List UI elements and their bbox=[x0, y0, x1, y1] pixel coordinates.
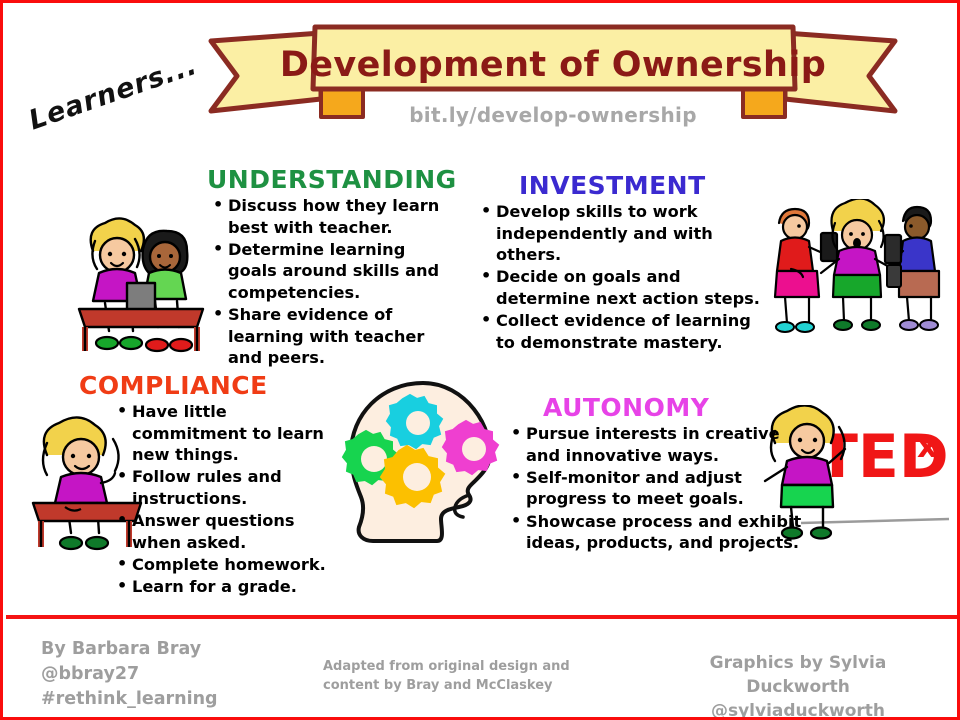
page-title: Development of Ownership bbox=[203, 45, 903, 85]
list-item: Determine learning goals around skills a… bbox=[213, 239, 457, 303]
footer-adaptation-line-1: Adapted from original design and bbox=[323, 658, 570, 677]
footer-divider bbox=[6, 615, 960, 619]
list-item: Decide on goals and determine next actio… bbox=[481, 266, 767, 309]
quadrant-investment-bullets: Develop skills to work independently and… bbox=[481, 201, 767, 353]
footer-adaptation-line-2: content by Bray and McClaskey bbox=[323, 677, 570, 696]
learners-label: Learners... bbox=[25, 50, 201, 137]
list-item: Learn for a grade. bbox=[117, 576, 339, 597]
list-item: Self-monitor and adjust progress to meet… bbox=[511, 467, 805, 510]
footer-author-credit: By Barbara Bray @bbray27 #rethink_learni… bbox=[41, 637, 218, 712]
footer-graphics-handle: @sylviaduckworth bbox=[663, 699, 933, 720]
list-item: Complete homework. bbox=[117, 554, 339, 575]
poster-canvas: Development of Ownership bit.ly/develop-… bbox=[0, 0, 960, 720]
footer-graphics-name: Graphics by Sylvia Duckworth bbox=[663, 651, 933, 699]
short-link: bit.ly/develop-ownership bbox=[213, 103, 893, 127]
list-item: Answer questions when asked. bbox=[117, 510, 339, 553]
quadrant-understanding-heading: UNDERSTANDING bbox=[207, 167, 457, 193]
footer-adaptation-note: Adapted from original design and content… bbox=[323, 658, 570, 696]
list-item: Pursue interests in creative and innovat… bbox=[511, 423, 805, 466]
list-item: Showcase process and exhibit ideas, prod… bbox=[511, 511, 805, 554]
list-item: Follow rules and instructions. bbox=[117, 466, 339, 509]
head-profile-with-gears-illustration bbox=[341, 377, 513, 553]
quadrant-investment-heading: INVESTMENT bbox=[519, 173, 767, 199]
quadrant-autonomy-bullets: Pursue interests in creative and innovat… bbox=[511, 423, 805, 553]
quadrant-autonomy: AUTONOMY Pursue interests in creative an… bbox=[509, 395, 805, 555]
footer-author-name: By Barbara Bray bbox=[41, 637, 218, 662]
quadrant-compliance-bullets: Have little commitment to learn new thin… bbox=[117, 401, 339, 597]
quadrant-compliance: COMPLIANCE Have little commitment to lea… bbox=[79, 373, 339, 599]
quadrant-autonomy-heading: AUTONOMY bbox=[543, 395, 805, 421]
list-item: Discuss how they learn best with teacher… bbox=[213, 195, 457, 238]
list-item: Develop skills to work independently and… bbox=[481, 201, 767, 265]
footer-author-handle: @bbray27 bbox=[41, 662, 218, 687]
quadrant-understanding: UNDERSTANDING Discuss how they learn bes… bbox=[199, 167, 457, 369]
quadrant-investment: INVESTMENT Develop skills to work indepe… bbox=[481, 173, 767, 354]
footer-graphics-credit: Graphics by Sylvia Duckworth @sylviaduck… bbox=[663, 651, 933, 720]
two-students-at-desk-with-laptop-illustration bbox=[65, 211, 215, 365]
three-students-with-devices-illustration bbox=[763, 199, 953, 348]
svg-text:x: x bbox=[917, 427, 938, 465]
footer-author-hashtag: #rethink_learning bbox=[41, 687, 218, 712]
quadrant-compliance-heading: COMPLIANCE bbox=[79, 373, 339, 399]
list-item: Collect evidence of learning to demonstr… bbox=[481, 310, 767, 353]
quadrant-understanding-bullets: Discuss how they learn best with teacher… bbox=[213, 195, 457, 368]
list-item: Have little commitment to learn new thin… bbox=[117, 401, 339, 465]
list-item: Share evidence of learning with teacher … bbox=[213, 304, 457, 368]
